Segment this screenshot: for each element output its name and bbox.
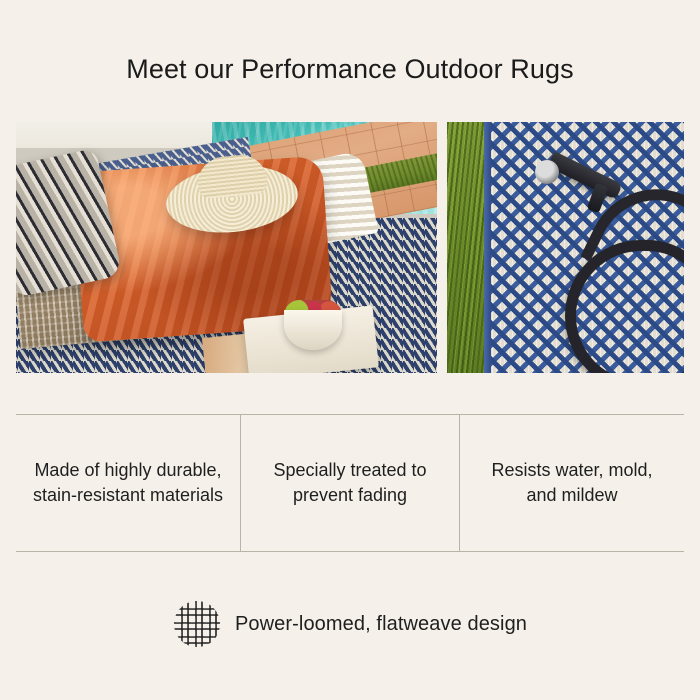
rug-closeup-hose-photo <box>447 122 684 373</box>
hose-connector <box>535 160 559 184</box>
marketing-infographic: Meet our Performance Outdoor Rugs <box>0 0 700 700</box>
feature-durable-materials: Made of highly durable, stain-resistant … <box>16 415 240 551</box>
grass-lawn <box>447 122 484 373</box>
feature-list: Made of highly durable, stain-resistant … <box>16 415 684 551</box>
poolside-lounger-photo <box>16 122 437 373</box>
feature-water-mold-mildew-resistant: Resists water, mold, and mildew <box>460 415 684 551</box>
feature-fade-resistant: Specially treated to prevent fading <box>240 415 460 551</box>
weave-pattern-icon <box>173 600 221 648</box>
footer-callout: Power-loomed, flatweave design <box>0 600 700 648</box>
page-title: Meet our Performance Outdoor Rugs <box>0 54 700 85</box>
rug-border <box>484 122 491 373</box>
divider-bottom <box>16 551 684 552</box>
image-gallery <box>16 122 684 373</box>
footer-label: Power-loomed, flatweave design <box>235 613 527 636</box>
